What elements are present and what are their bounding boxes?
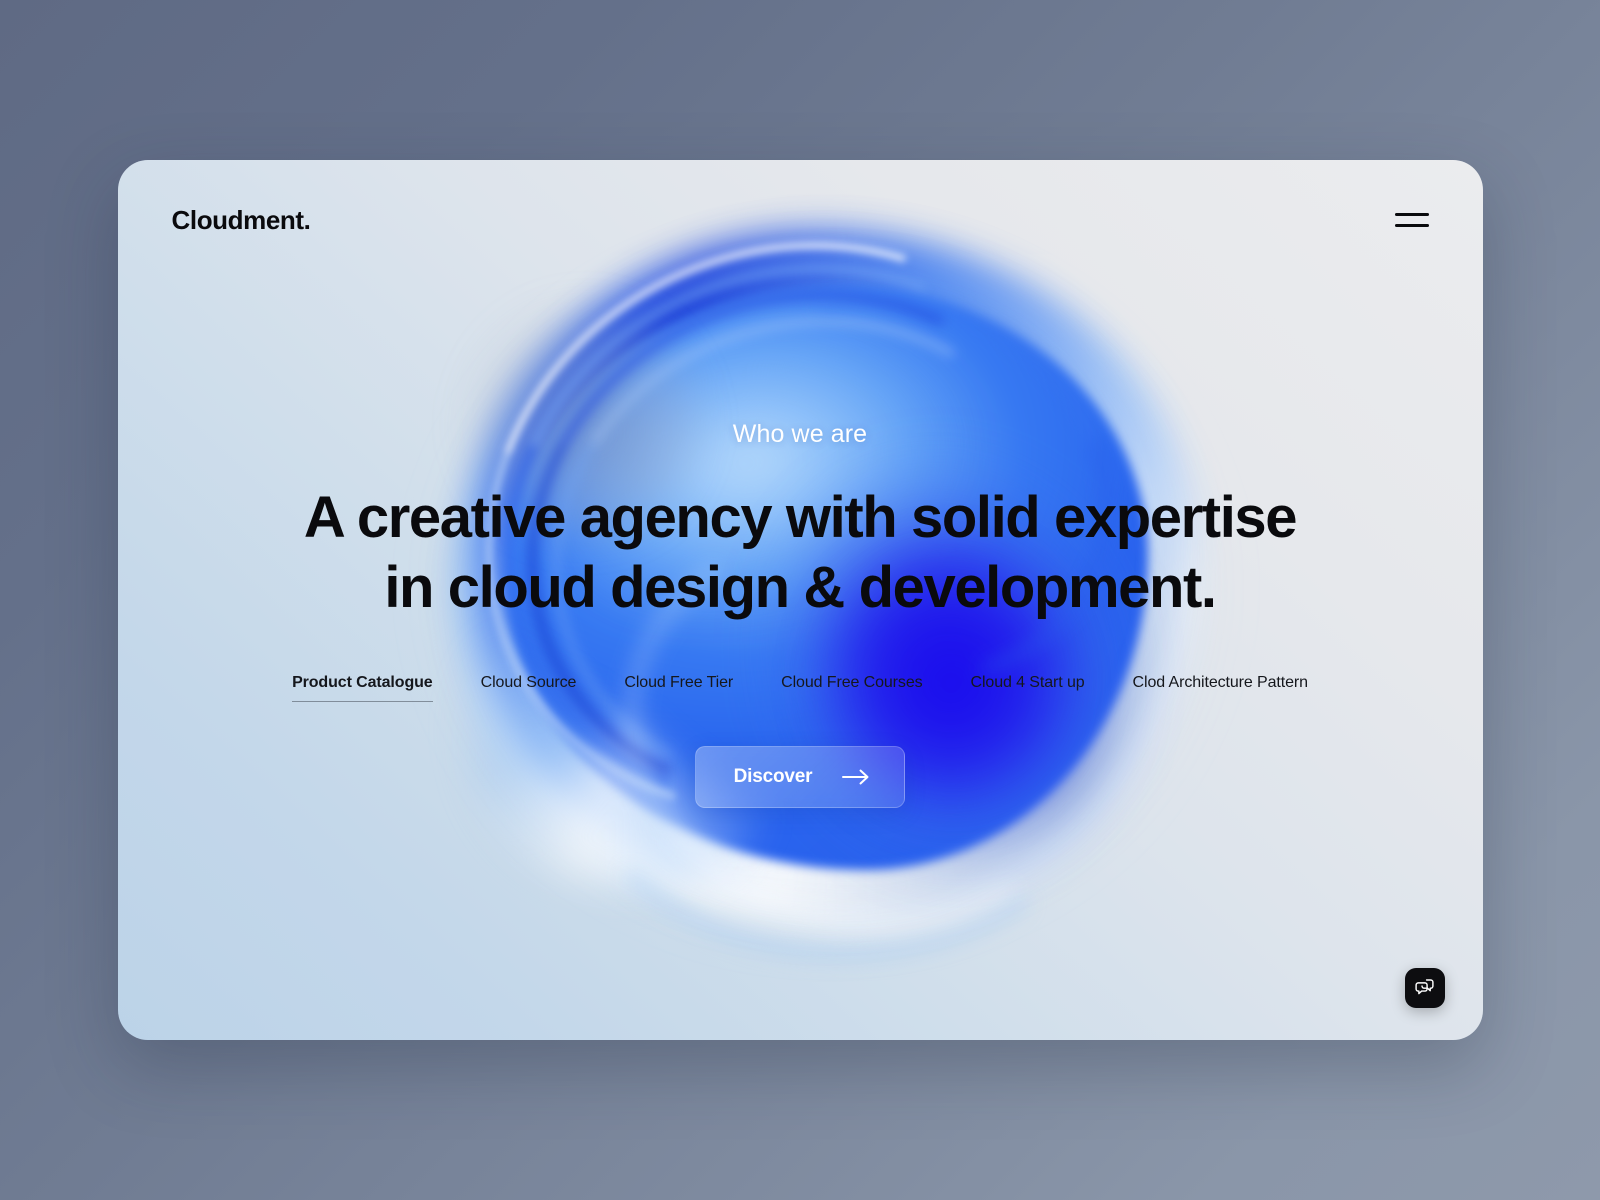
hero-eyebrow: Who we are xyxy=(733,420,867,449)
category-link-clod-architecture-pattern[interactable]: Clod Architecture Pattern xyxy=(1109,674,1308,702)
category-link-cloud-source[interactable]: Cloud Source xyxy=(457,674,601,702)
site-viewport: Cloudment. Who we are A creative agency … xyxy=(118,160,1483,1040)
headline-line-1: A creative agency with solid expertise xyxy=(304,483,1296,553)
brand-logo[interactable]: Cloudment. xyxy=(172,207,311,233)
category-link-cloud-free-courses[interactable]: Cloud Free Courses xyxy=(757,674,946,702)
discover-button[interactable]: Discover xyxy=(695,746,906,808)
site-header: Cloudment. xyxy=(118,160,1483,280)
chat-bubbles-icon xyxy=(1414,976,1435,1000)
hamburger-bar-bottom xyxy=(1395,224,1429,227)
category-link-cloud-free-tier[interactable]: Cloud Free Tier xyxy=(600,674,757,702)
page-title: A creative agency with solid expertise i… xyxy=(304,483,1296,622)
category-link-cloud-4-start-up[interactable]: Cloud 4 Start up xyxy=(947,674,1109,702)
hamburger-bar-top xyxy=(1395,213,1429,216)
hero-section: Who we are A creative agency with solid … xyxy=(118,420,1483,808)
discover-button-label: Discover xyxy=(734,766,813,788)
headline-line-2: in cloud design & development. xyxy=(304,553,1296,623)
chat-widget-button[interactable] xyxy=(1405,968,1445,1008)
category-link-product-catalogue[interactable]: Product Catalogue xyxy=(292,674,457,702)
arrow-right-icon xyxy=(842,769,870,785)
hamburger-icon[interactable] xyxy=(1395,209,1429,231)
category-nav: Product Catalogue Cloud Source Cloud Fre… xyxy=(292,674,1308,702)
